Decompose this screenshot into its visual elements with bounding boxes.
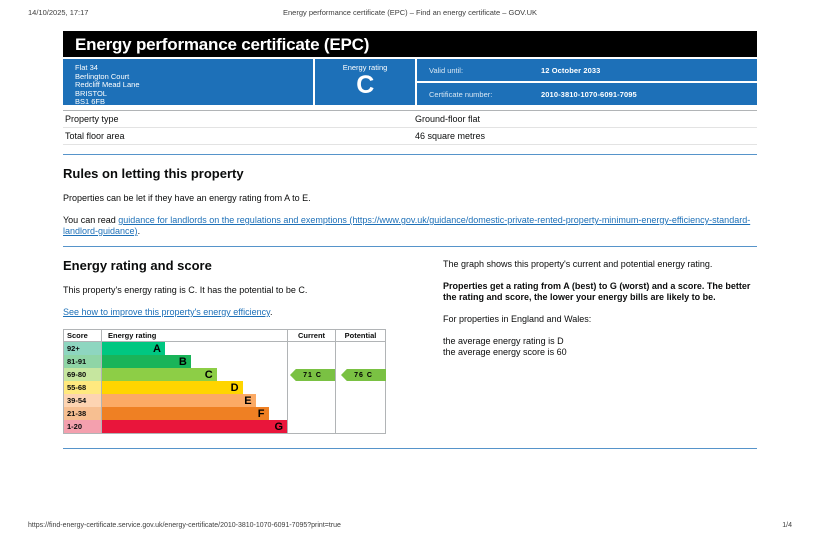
print-source-url: https://find-energy-certificate.service.…	[28, 522, 341, 529]
epc-band-row-a: 92+A	[64, 342, 385, 355]
page-title: Energy performance certificate (EPC)	[75, 36, 369, 53]
rules-paragraph-2: You can read guidance for landlords on t…	[63, 215, 757, 237]
epc-col-energy-rating: Energy rating	[101, 330, 287, 341]
rules-heading: Rules on letting this property	[63, 166, 757, 182]
rating-heading: Energy rating and score	[63, 258, 443, 274]
landlord-guidance-link[interactable]: guidance for landlords on the regulation…	[63, 215, 750, 236]
print-document-title: Energy performance certificate (EPC) – F…	[0, 8, 820, 17]
epc-score-range-g: 1-20	[64, 420, 101, 433]
epc-bar-cell-b: B	[101, 355, 287, 368]
graph-explanation-3: For properties in England and Wales:	[443, 314, 757, 325]
valid-until-value: 12 October 2033	[541, 66, 600, 75]
epc-score-range-f: 21-38	[64, 407, 101, 420]
improve-efficiency-link[interactable]: See how to improve this property's energ…	[63, 307, 270, 317]
epc-score-range-b: 81-91	[64, 355, 101, 368]
epc-potential-cell-d	[335, 381, 385, 394]
epc-col-potential: Potential	[335, 330, 385, 341]
epc-band-row-c: 69-80C	[64, 368, 385, 381]
epc-potential-cell-e	[335, 394, 385, 407]
rules-paragraph-2-suffix: .	[138, 226, 141, 236]
epc-bar-cell-c: C	[101, 368, 287, 381]
epc-bar-cell-g: G	[101, 420, 287, 433]
certificate-number-row: Certificate number: 2010-3810-1070-6091-…	[417, 83, 757, 105]
energy-rating-badge: Energy rating C	[315, 59, 415, 105]
epc-band-bar-a: A	[102, 342, 165, 355]
epc-band-bar-b: B	[102, 355, 191, 368]
rating-paragraph: This property's energy rating is C. It h…	[63, 285, 443, 296]
valid-until-label: Valid until:	[429, 66, 541, 75]
certificate-banner: Energy performance certificate (EPC)	[63, 31, 757, 57]
epc-current-rating-marker: 71 C	[290, 369, 335, 381]
epc-chart-body: 92+A81-91B69-80C55-68D39-54E21-38F1-20G7…	[64, 342, 385, 433]
property-type-label: Property type	[65, 114, 415, 124]
graph-explanation-1: The graph shows this property's current …	[443, 259, 757, 270]
epc-bar-cell-a: A	[101, 342, 287, 355]
epc-band-bar-f: F	[102, 407, 269, 420]
certificate-page: Energy performance certificate (EPC) Fla…	[63, 31, 757, 449]
certificate-summary: Flat 34 Berlington Court Redcliff Mead L…	[63, 59, 757, 105]
epc-bar-cell-f: F	[101, 407, 287, 420]
table-row: Total floor area 46 square metres	[63, 128, 757, 145]
epc-score-range-a: 92+	[64, 342, 101, 355]
print-header: 14/10/2025, 17:17 Energy performance cer…	[0, 8, 820, 22]
total-floor-area-label: Total floor area	[65, 131, 415, 141]
average-rating-text: the average energy rating is D	[443, 336, 757, 347]
rating-right-column: The graph shows this property's current …	[443, 247, 757, 434]
epc-band-row-e: 39-54E	[64, 394, 385, 407]
valid-until-row: Valid until: 12 October 2033	[417, 59, 757, 81]
rating-left-column: Energy rating and score This property's …	[63, 247, 443, 434]
epc-current-cell-f	[287, 407, 335, 420]
property-details-list: Property type Ground-floor flat Total fl…	[63, 110, 757, 145]
epc-current-cell-a	[287, 342, 335, 355]
epc-score-range-d: 55-68	[64, 381, 101, 394]
epc-band-row-d: 55-68D	[64, 381, 385, 394]
epc-current-cell-b	[287, 355, 335, 368]
epc-band-row-f: 21-38F	[64, 407, 385, 420]
epc-chart-header: Score Energy rating Current Potential	[64, 330, 385, 342]
rules-paragraph-2-prefix: You can read	[63, 215, 118, 225]
rating-and-score-section: Energy rating and score This property's …	[63, 247, 757, 434]
epc-col-current: Current	[287, 330, 335, 341]
certificate-number-label: Certificate number:	[429, 90, 541, 99]
section-divider	[63, 154, 757, 155]
epc-potential-cell-a	[335, 342, 385, 355]
certificate-meta: Valid until: 12 October 2033 Certificate…	[417, 59, 757, 105]
epc-bar-cell-d: D	[101, 381, 287, 394]
epc-score-range-e: 39-54	[64, 394, 101, 407]
epc-current-cell-e	[287, 394, 335, 407]
epc-score-range-c: 69-80	[64, 368, 101, 381]
epc-current-cell-d	[287, 381, 335, 394]
epc-potential-cell-f	[335, 407, 385, 420]
print-page-number: 1/4	[782, 522, 792, 529]
epc-potential-cell-g	[335, 420, 385, 433]
page-bottom-divider	[63, 448, 757, 449]
total-floor-area-value: 46 square metres	[415, 131, 757, 141]
epc-potential-cell-b	[335, 355, 385, 368]
rules-paragraph-1: Properties can be let if they have an en…	[63, 193, 757, 204]
print-footer: https://find-energy-certificate.service.…	[0, 522, 820, 534]
epc-rating-chart: Score Energy rating Current Potential 92…	[63, 329, 386, 434]
epc-band-bar-c: C	[102, 368, 217, 381]
epc-current-cell-g	[287, 420, 335, 433]
certificate-number-value: 2010-3810-1070-6091-7095	[541, 90, 637, 99]
epc-potential-rating-marker: 76 C	[341, 369, 386, 381]
epc-band-bar-g: G	[102, 420, 287, 433]
epc-bar-cell-e: E	[101, 394, 287, 407]
epc-band-bar-d: D	[102, 381, 243, 394]
energy-rating-letter: C	[315, 72, 415, 98]
epc-band-row-b: 81-91B	[64, 355, 385, 368]
epc-col-score: Score	[64, 330, 101, 341]
improve-efficiency-paragraph: See how to improve this property's energ…	[63, 307, 443, 318]
epc-band-bar-e: E	[102, 394, 256, 407]
improve-link-suffix: .	[270, 307, 273, 317]
average-score-text: the average energy score is 60	[443, 347, 757, 358]
property-type-value: Ground-floor flat	[415, 114, 757, 124]
property-address: Flat 34 Berlington Court Redcliff Mead L…	[63, 59, 313, 105]
epc-band-row-g: 1-20G	[64, 420, 385, 433]
graph-explanation-2: Properties get a rating from A (best) to…	[443, 281, 757, 303]
table-row: Property type Ground-floor flat	[63, 110, 757, 128]
